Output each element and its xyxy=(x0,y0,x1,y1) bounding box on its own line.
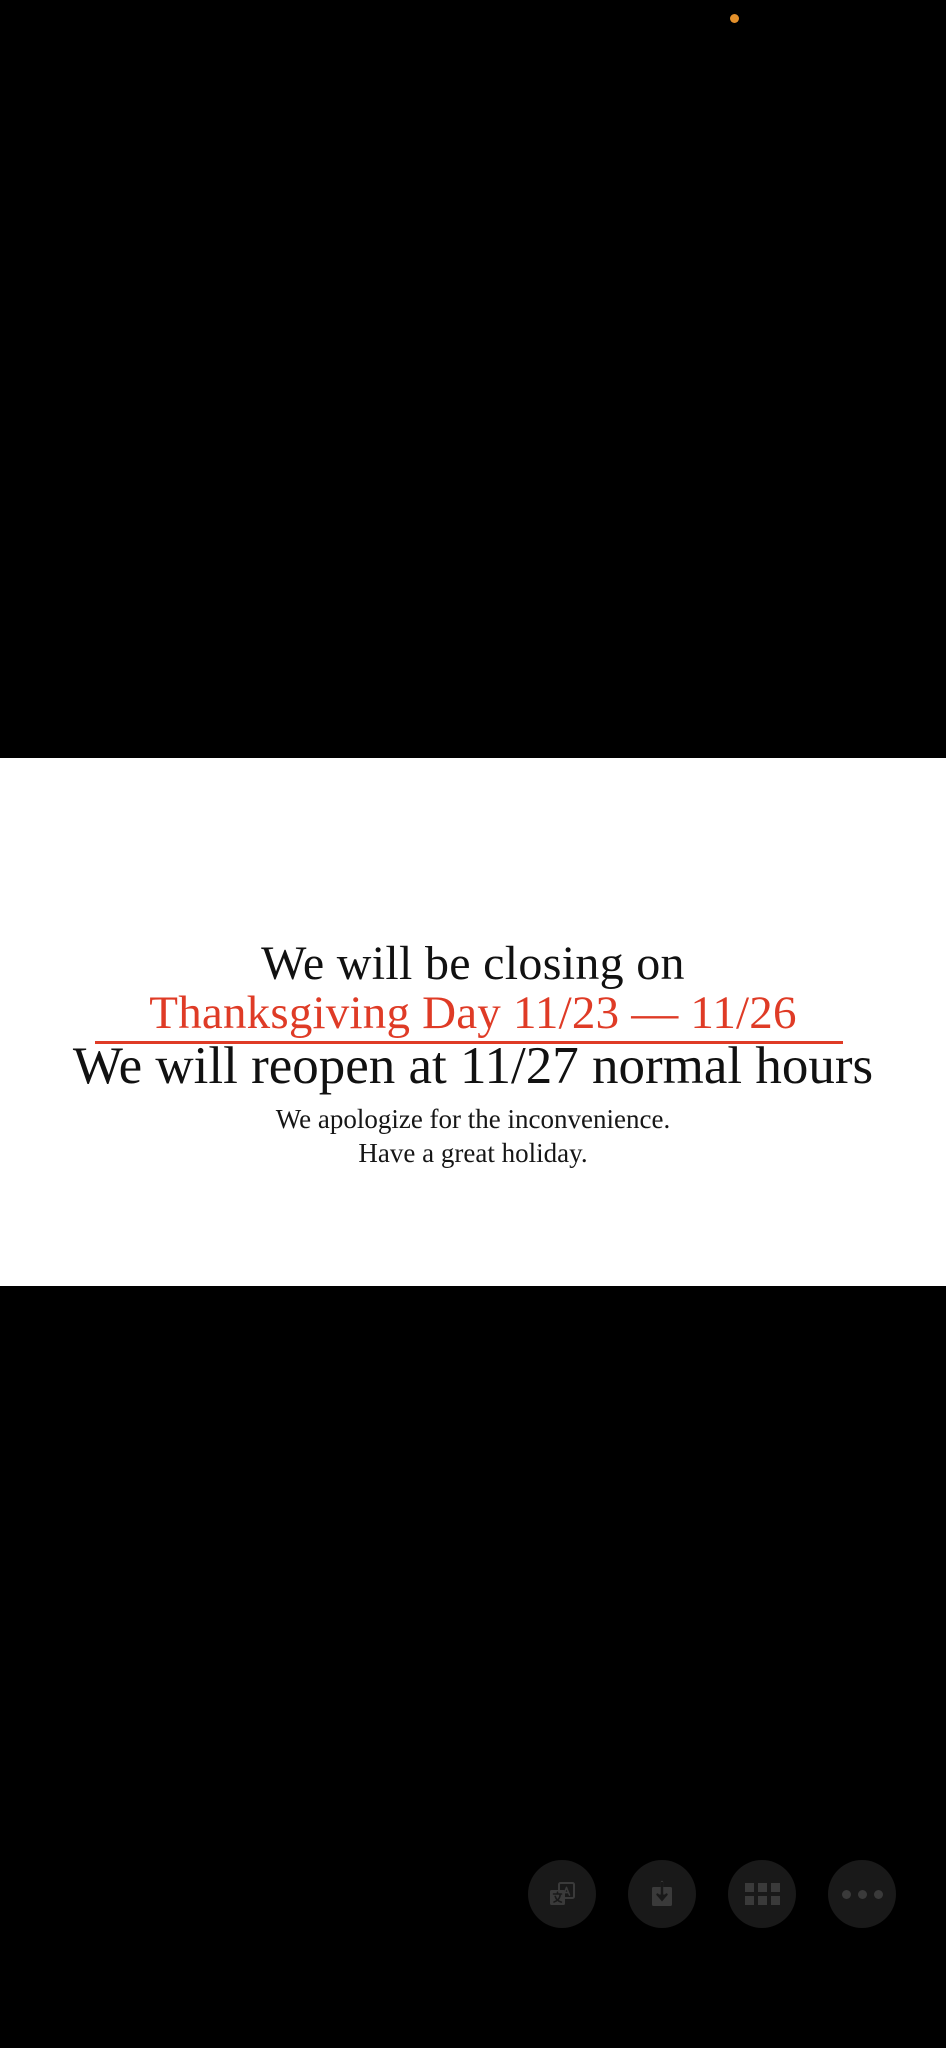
notice-line-reopen: We will reopen at 11/27 normal hours xyxy=(0,1040,946,1093)
action-bar xyxy=(0,1860,946,1936)
translate-icon xyxy=(546,1878,578,1910)
download-icon xyxy=(647,1879,677,1909)
grid-button[interactable] xyxy=(728,1860,796,1928)
notice-line-apology: We apologize for the inconvenience. xyxy=(0,1106,946,1133)
save-button[interactable] xyxy=(628,1860,696,1928)
phone-screen: We will be closing on Thanksgiving Day 1… xyxy=(0,0,946,2048)
camera-in-use-dot xyxy=(730,14,739,23)
notice-content: We will be closing on Thanksgiving Day 1… xyxy=(0,758,946,1286)
translate-button[interactable] xyxy=(528,1860,596,1928)
notice-image[interactable]: We will be closing on Thanksgiving Day 1… xyxy=(0,758,946,1286)
more-button[interactable] xyxy=(828,1860,896,1928)
more-horizontal-icon xyxy=(842,1890,883,1899)
notice-line-dates: Thanksgiving Day 11/23 — 11/26 xyxy=(0,990,946,1037)
status-bar xyxy=(0,0,946,40)
grid-icon xyxy=(745,1883,780,1905)
notice-line-holiday: Have a great holiday. xyxy=(0,1140,946,1167)
notice-line-closing: We will be closing on xyxy=(0,940,946,988)
